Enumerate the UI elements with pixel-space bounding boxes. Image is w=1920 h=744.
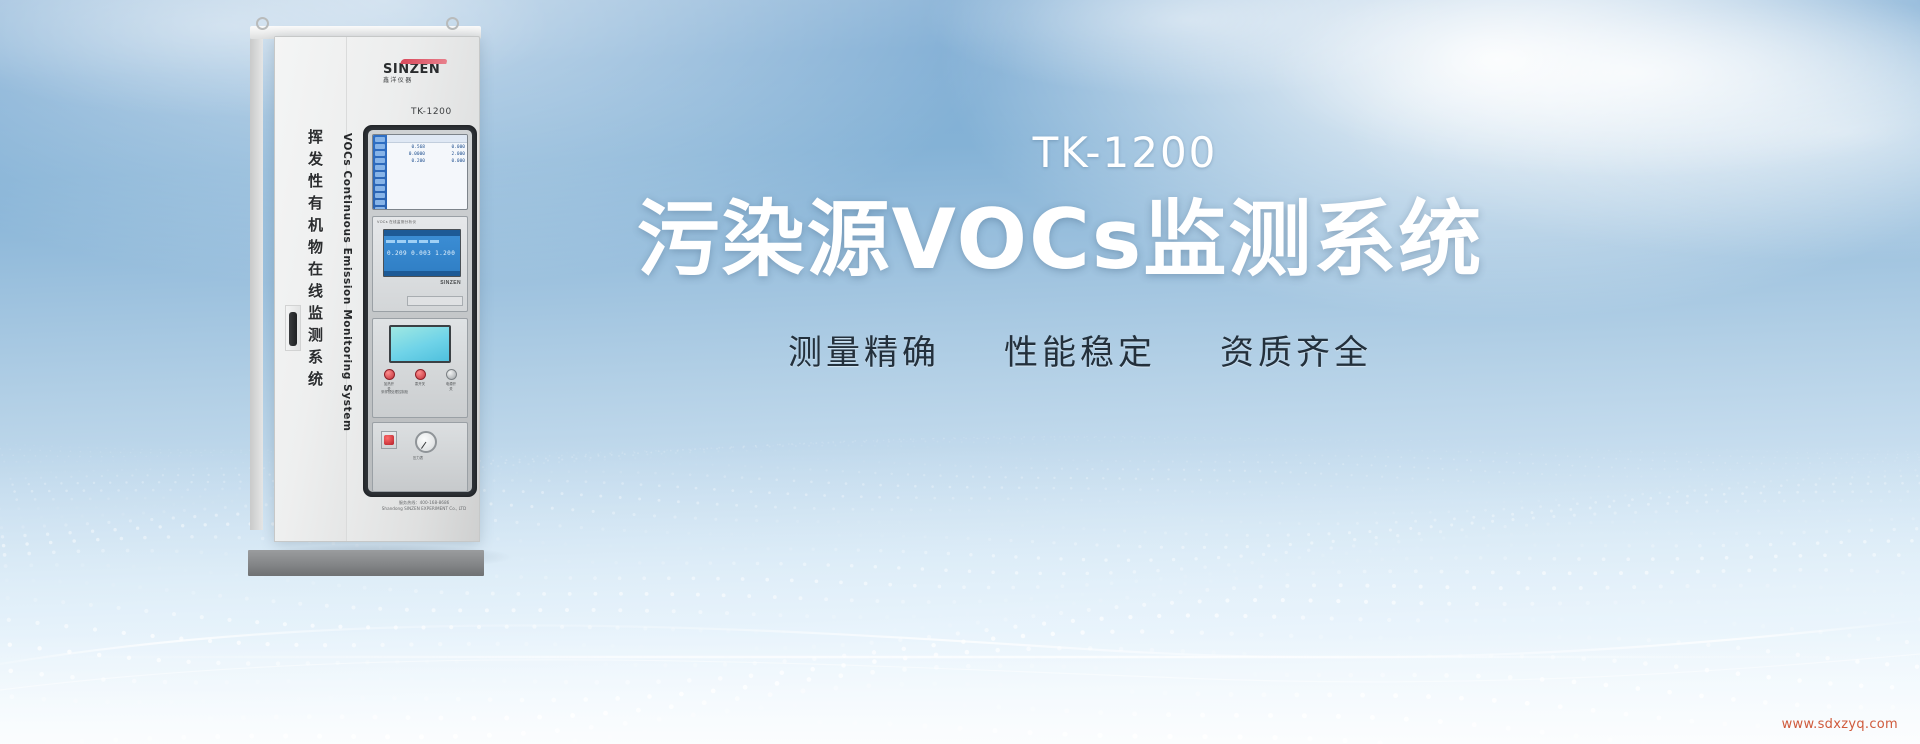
analyzer-display-titlebar (384, 230, 460, 236)
hmi-cell: 0.0000 (389, 152, 425, 157)
emergency-stop-button[interactable] (381, 431, 397, 449)
cabinet-brand-logo: SINZEN 鑫洋仪器 (383, 63, 465, 84)
analyzer-panel-label: VOCs 在线监测分析仪 (377, 220, 416, 225)
controller-module: 加热开关 泵开关 电源开关 采样预处理控制柜 (372, 318, 468, 418)
hmi-side-nav (373, 135, 387, 209)
feature-item: 性能稳定 (1004, 325, 1156, 374)
cabinet-vertical-english-label: VOCs Continuous Emission Monitoring Syst… (341, 133, 353, 432)
hmi-readout-grid: 0.568 0.000 0.0000 2.000 0.200 0.000 (389, 145, 465, 164)
knob-label: 电源开关 (445, 381, 457, 391)
hmi-cell: 2.000 (429, 152, 465, 157)
analyzer-module: VOCs 在线监测分析仪 0.209 0.003 1.200 SINZEN (372, 216, 468, 312)
feature-item: 资质齐全 (1220, 325, 1372, 374)
hmi-touchscreen[interactable]: 0.568 0.000 0.0000 2.000 0.200 0.000 (372, 134, 468, 210)
banner-headline: 污染源VOCs监测系统 (560, 195, 1560, 285)
brand-cn-text: 鑫洋仪器 (383, 78, 465, 84)
brand-swoosh-icon (400, 59, 448, 64)
cabinet-vertical-chinese-label: 挥发性有机物在线监测系统 (305, 129, 326, 393)
analyzer-brand-text: SINZEN (440, 280, 461, 286)
instrument-bay: 0.568 0.000 0.0000 2.000 0.200 0.000 VOC… (363, 125, 477, 497)
brand-name-text: SINZEN (383, 63, 465, 76)
site-watermark: www.sdxzyq.com (1782, 717, 1898, 732)
cabinet-base-plinth (248, 550, 484, 576)
cabinet-body: SINZEN 鑫洋仪器 TK-1200 挥发性有机物在线监测系统 VOCs Co… (274, 36, 480, 542)
analyzer-readout: 0.209 0.003 1.200 (387, 250, 457, 257)
hmi-cell: 0.000 (429, 159, 465, 164)
hmi-cell: 0.000 (429, 145, 465, 150)
valve-module: 压力表 (372, 422, 468, 492)
knob-icon (446, 369, 457, 380)
feature-item: 测量精确 (788, 325, 940, 374)
controller-knob-row: 加热开关 泵开关 电源开关 (383, 369, 457, 391)
hmi-cell: 0.568 (389, 145, 425, 150)
cabinet-left-edge (250, 38, 263, 530)
controller-knob[interactable]: 泵开关 (414, 369, 426, 391)
product-banner: SINZEN 鑫洋仪器 TK-1200 挥发性有机物在线监测系统 VOCs Co… (0, 0, 1920, 744)
controller-knob[interactable]: 电源开关 (445, 369, 457, 391)
knob-icon (415, 369, 426, 380)
pressure-gauge-label: 压力表 (413, 455, 423, 460)
feature-list: 测量精确 性能稳定 资质齐全 (560, 325, 1560, 374)
hmi-cell: 0.200 (389, 159, 425, 164)
knob-icon (384, 369, 395, 380)
controller-knob[interactable]: 加热开关 (383, 369, 395, 391)
banner-copy-block: TK-1200 污染源VOCs监测系统 测量精确 性能稳定 资质齐全 (560, 128, 1560, 374)
cabinet-footer-label: 服务热线：400-168-8686 Shandong SINZEN EXPERI… (369, 500, 479, 513)
cabinet-model-tag: TK-1200 (411, 107, 452, 117)
cabinet-footer-line-1: 服务热线：400-168-8686 (369, 500, 479, 507)
hmi-title-bar (387, 135, 467, 143)
analyzer-display-footer (384, 271, 460, 276)
knob-label: 泵开关 (414, 381, 426, 386)
product-cabinet: SINZEN 鑫洋仪器 TK-1200 挥发性有机物在线监测系统 VOCs Co… (262, 24, 494, 564)
estop-icon (384, 435, 394, 445)
analyzer-display: 0.209 0.003 1.200 (383, 229, 461, 277)
controller-display[interactable] (389, 325, 451, 363)
eyebolt-icon-right (446, 17, 459, 30)
eyebolt-icon-left (256, 17, 269, 30)
cabinet-door-handle[interactable] (285, 305, 301, 351)
product-model-label: TK-1200 (560, 128, 1560, 177)
controller-caption: 采样预处理控制柜 (381, 389, 408, 394)
instrument-bay-inner: 0.568 0.000 0.0000 2.000 0.200 0.000 VOC… (368, 130, 472, 492)
analyzer-slot (407, 296, 463, 306)
pressure-gauge-icon (415, 431, 437, 453)
cabinet-footer-line-2: Shandong SINZEN EXPERIMENT Co., LTD (369, 506, 479, 513)
